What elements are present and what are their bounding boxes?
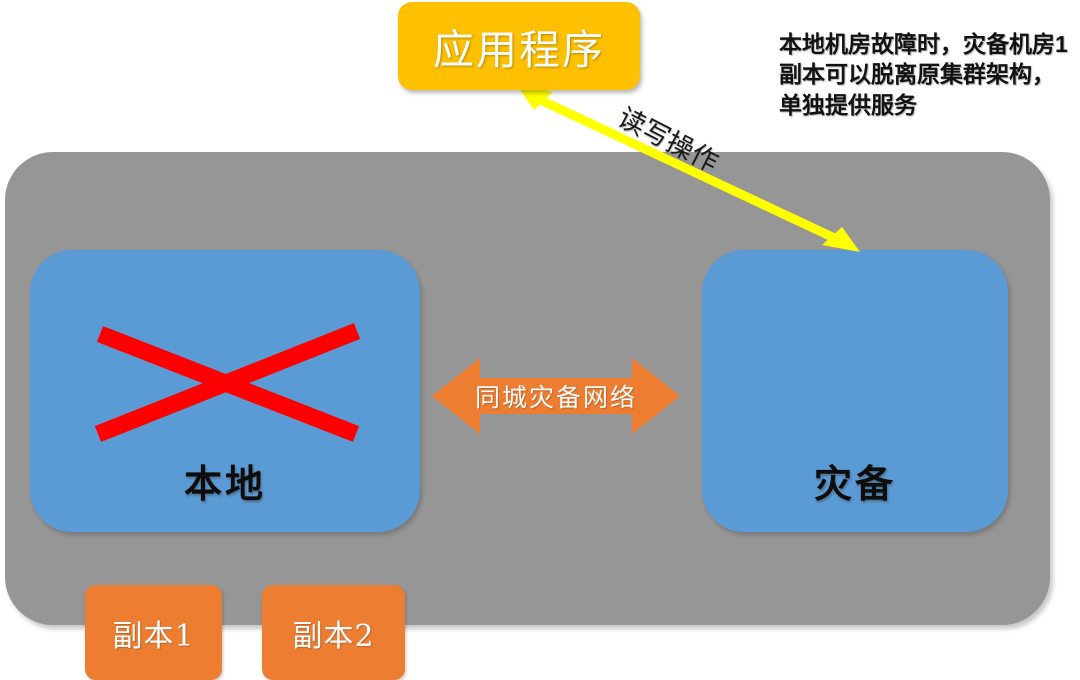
failover-note: 本地机房故障时，灾备机房1副本可以脱离原集群架构，单独提供服务	[779, 29, 1071, 120]
replica-box-2[interactable]: 副本2	[262, 585, 405, 680]
network-arrow-label: 同城灾备网络	[432, 352, 680, 440]
replica-box-1[interactable]: 副本1	[85, 585, 222, 680]
application-box[interactable]: 应用程序	[398, 2, 640, 90]
site-label-disaster-recovery: 灾备	[702, 453, 1008, 508]
site-local[interactable]: 副本1 副本2 本地	[30, 250, 420, 532]
site-disaster-recovery[interactable]: 副本3 灾备	[702, 250, 1008, 532]
application-label: 应用程序	[433, 16, 605, 76]
replica-label-2: 副本2	[292, 611, 374, 655]
replica-label-1: 副本1	[112, 611, 194, 655]
diagram-canvas: 副本1 副本2 本地 副本3 灾备 同城灾备网络 读写操作 应用程序 本地机房故…	[0, 0, 1080, 629]
site-label-local: 本地	[30, 453, 420, 508]
